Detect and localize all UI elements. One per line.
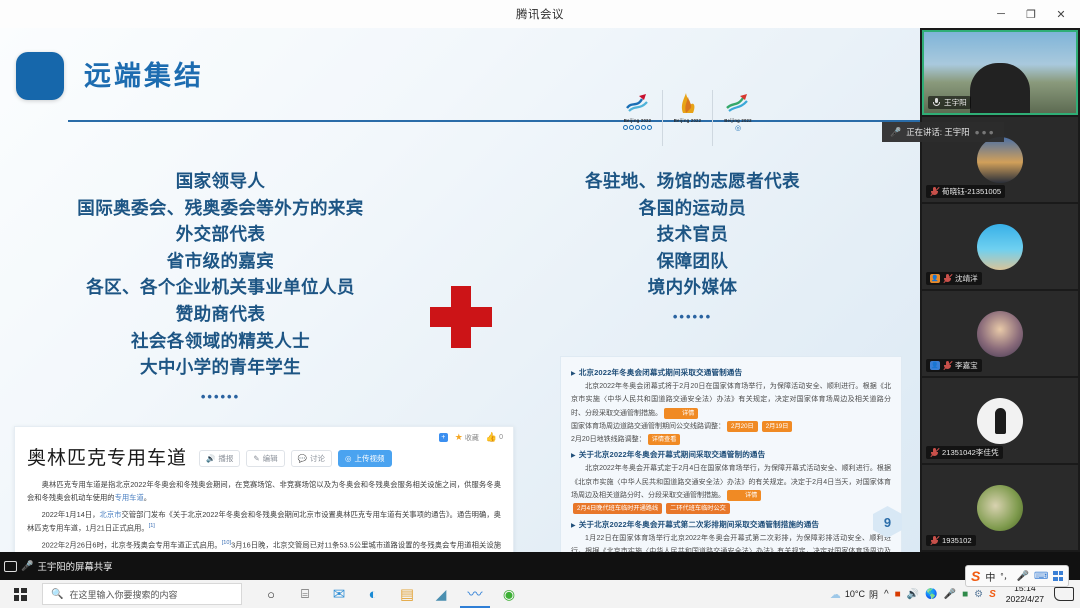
slide-left-ellipsis: •••••• [18,387,423,407]
notice-heading[interactable]: 关于北京2022年冬奥会开幕式期间采取交通管制的通告 [571,449,891,460]
show-hidden-icons-chevron-icon[interactable]: ^ [884,589,889,600]
baike-reference[interactable]: [1] [149,523,155,529]
window-controls: ─ ❐ ✕ [986,0,1076,28]
windows-logo-icon [14,588,27,601]
volume-icon[interactable]: 🔊 [907,589,919,600]
red-cross-icon [430,286,492,348]
slide-right-column: 各驻地、场馆的志愿者代表 各国的运动员 技术官员 保障团队 境内外媒体 ••••… [505,168,880,327]
avatar-silhouette [995,408,1006,434]
star-icon: ★ [455,432,463,443]
discuss-label: 讨论 [310,453,325,464]
thumbs-up-icon: 👍 [486,432,497,443]
sogou-ime-toolbar[interactable]: S 中 °， 🎤 ⌨ [965,565,1069,587]
favorite-button[interactable]: ★ 收藏 [455,432,479,443]
microphone-muted-icon [930,187,939,196]
slide-title: 远端集结 [84,63,204,90]
olympic-logos: Beijing 2022 Beijing 2022 [613,90,763,146]
pencil-icon: ✎ [253,454,259,463]
agitos-icon: ◎ [735,124,741,132]
participant-name: 王宇阳 [944,97,967,108]
microphone-muted-icon [943,361,952,370]
baike-article-panel: + ★ 收藏 👍 0 奥林匹克专用车道 [14,426,514,552]
olympic-rings-icon [623,125,652,130]
like-button[interactable]: 👍 0 [486,432,503,443]
participant-name: 21351042李佳凭 [942,447,999,458]
logo-label: Beijing 2022 [724,118,751,123]
participants-rail[interactable]: 王宇阳 荀晓钰-21351005 👤 沈靖洋 [920,28,1080,552]
windows-taskbar: 🔍 在这里输入你要搜索的内容 ○ ⌸ ✉ ◐ ▤ ◢ 〰 ◉ ☁ 10°C 阴 … [0,580,1080,608]
meeting-area: 远端集结 Beijing 2022 [0,28,1080,580]
minimize-button[interactable]: ─ [986,0,1016,28]
speaker-mic-icon: 🎤 [890,127,901,138]
edit-button[interactable]: ✎ 编辑 [246,450,284,467]
baike-inline-link[interactable]: 北京市 [99,510,121,519]
notice-tag[interactable]: 详情 [727,490,761,501]
notice-tag[interactable]: 详情 [664,408,698,419]
torch-emblem-icon [674,90,702,116]
participant-name: 荀晓钰-21351005 [942,186,1001,197]
slide-right-ellipsis: •••••• [505,307,880,327]
baike-text: 2022年2月26日6时，北京冬残奥会专用车道正式启用。 [42,541,222,550]
baike-action-buttons: 🔊 播报 ✎ 编辑 💬 讨论 [199,450,392,470]
notice-tag[interactable]: 2月4日晚代班车临时开通路线 [573,503,662,514]
loading-dots-icon: ●●● [975,127,996,137]
upload-video-icon: ◎ [345,454,352,463]
discuss-button[interactable]: 💬 讨论 [291,450,332,467]
participant-tile[interactable]: 👤 李嘉宝 [922,291,1078,376]
keyboard-icon[interactable]: ⌨ [1034,571,1048,582]
notice-tag[interactable]: 2月19日 [762,421,793,432]
logo-label: Beijing 2022 [624,118,651,123]
notice-tag[interactable]: 2月20日 [727,421,758,432]
slide-line: 境内外媒体 [505,274,880,301]
tencent-meeting-icon[interactable]: 〰 [460,580,490,608]
baike-paragraph: 2022年1月14日，北京市交管部门发布《关于北京2022年冬奥会和冬残奥会期间… [27,508,501,535]
avatar [977,485,1023,531]
notice-extra-label: 2月20日地铁线路调整： [571,436,646,443]
window-title: 腾讯会议 [516,6,564,22]
task-view-icon[interactable]: ⌸ [290,580,320,608]
search-placeholder: 在这里输入你要搜索的内容 [69,588,177,601]
cortana-icon[interactable]: ○ [256,580,286,608]
slide-line: 社会各领域的精英人士 [18,328,423,355]
participant-name: 1935102 [942,536,972,545]
slide-title-row: 远端集结 [16,52,204,100]
notice-body: 北京2022年冬奥会闭幕式将于2月20日在国家体育场举行，为保障活动安全、顺利进… [571,380,891,420]
apps-icon[interactable] [1053,571,1063,581]
wechat-icon[interactable]: ◉ [494,580,524,608]
participant-tile[interactable]: 👤 沈靖洋 [922,204,1078,289]
baike-paragraph: 2022年2月26日6时，北京冬残奥会专用车道正式启用。[10]3月16日晚，北… [27,538,501,552]
favorite-label: 收藏 [465,433,479,443]
comment-icon: 💬 [298,454,307,463]
logo-label: Beijing 2022 [674,118,701,123]
baike-top-actions: + ★ 收藏 👍 0 [439,432,503,443]
slide-line: 各区、各个企业机关事业单位人员 [18,274,423,301]
settings-gear-icon[interactable]: ⚙ [974,589,983,600]
edit-label: 编辑 [263,453,278,464]
participant-nameplate: 王宇阳 [928,96,971,109]
participant-tile[interactable]: 王宇阳 [922,30,1078,115]
network-icon[interactable]: 🌎 [925,589,937,600]
weather-temp: 10°C [845,589,865,599]
baike-text: 奥林匹克专用车道是指北京2022年冬奥会和冬残奥会期间，在竞赛场馆、非竞赛场馆以… [27,480,501,502]
participant-nameplate: 👤 李嘉宝 [926,359,982,372]
slide-line: 各国的运动员 [505,195,880,222]
tooltip-text: 正在讲话: 王宇阳 [906,126,969,138]
notice-extra: 2月20日地铁线路调整：详情查看 [571,433,891,446]
window-titlebar: 腾讯会议 ─ ❐ ✕ [0,0,1080,28]
notice-body-text: 1月22日在国家体育场举行北京2022年冬奥会开幕式第二次彩排，为保障彩排活动安… [571,535,891,552]
cloud-icon: ☁ [830,588,841,601]
avatar [977,311,1023,357]
speaker-icon: 🔊 [206,454,215,463]
beijing-2022-paralympic-logo: Beijing 2022 ◎ [713,90,763,146]
participant-tile[interactable]: 1935102 [922,465,1078,550]
mic-icon[interactable]: 🎤 [1017,571,1029,582]
slide-line: 技术官员 [505,221,880,248]
participant-name: 沈靖洋 [955,273,978,284]
avatar [977,137,1023,183]
microphone-icon [932,98,941,107]
microphone-muted-icon [943,274,952,283]
microphone-icon: 🎤 [21,561,33,572]
notice-body: 1月22日在国家体育场举行北京2022年冬奥会开幕式第二次彩排，为保障彩排活动安… [571,532,891,552]
monitor-icon [4,561,17,572]
slide-line: 外交部代表 [18,221,423,248]
beijing-2022-torch-logo: Beijing 2022 [663,90,713,146]
search-icon: 🔍 [51,589,63,600]
notice-body: 北京2022年冬奥会开幕式定于2月4日在国家体育场举行，为保障开幕式活动安全、顺… [571,462,891,502]
taskbar-icons: ○ ⌸ ✉ ◐ ▤ ◢ 〰 ◉ [256,580,524,608]
cohost-badge-icon: 👤 [930,361,940,370]
participant-nameplate: 21351042李佳凭 [926,446,1003,459]
baike-reference[interactable]: [10] [222,540,231,546]
battery-icon[interactable]: ■ [962,589,968,600]
slide-line: 赞助商代表 [18,301,423,328]
notice-extra: 国家体育场周边道路交通管制期间公交线路调整：2月20日2月19日 [571,420,891,433]
ime-mode-toggle[interactable]: 中 [985,569,995,584]
notice-heading[interactable]: 关于北京2022年冬奥会开幕式第二次彩排期间采取交通管制措施的通告 [571,519,891,530]
slide-title-chip-icon [16,52,64,100]
baike-header: 奥林匹克专用车道 🔊 播报 ✎ 编辑 💬 [27,443,501,470]
maximize-button[interactable]: ❐ [1016,0,1046,28]
participant-nameplate: 荀晓钰-21351005 [926,185,1005,198]
tencent-meeting-window: 腾讯会议 ─ ❐ ✕ 远端集结 [0,0,1080,608]
person-silhouette [970,63,1030,113]
close-button[interactable]: ✕ [1046,0,1076,28]
slide-line: 各驻地、场馆的志愿者代表 [505,168,880,195]
baike-body: 奥林匹克专用车道是指北京2022年冬奥会和冬残奥会期间，在竞赛场馆、非竞赛场馆以… [27,478,501,552]
wps-icon[interactable]: ◢ [426,580,456,608]
slide-line: 大中小学的青年学生 [18,354,423,381]
notice-heading[interactable]: 北京2022年冬奥会闭幕式期间采取交通管制通告 [571,367,891,378]
upload-video-label: 上传视频 [355,453,385,464]
share-status-text: 王宇阳的屏幕共享 [37,559,112,573]
weather-condition: 阴 [869,588,878,601]
notice-tag[interactable]: 二环代班车临时公交 [666,503,730,514]
participant-tile[interactable]: 21351042李佳凭 [922,378,1078,463]
slide-line: 保障团队 [505,248,880,275]
broadcast-label: 播报 [218,453,233,464]
slide-line: 国家领导人 [18,168,423,195]
baike-text: 2022年1月14日， [42,510,100,519]
notification-center-icon[interactable] [1054,587,1074,601]
presentation-slide: 远端集结 Beijing 2022 [0,28,920,552]
edge-icon[interactable]: ◐ [358,580,388,608]
baike-inline-link[interactable]: 专用车道 [115,493,144,502]
avatar [977,224,1023,270]
like-count: 0 [499,434,503,441]
slide-line: 国际奥委会、残奥委会等外方的来宾 [18,195,423,222]
pdf-app-icon[interactable]: ■ [895,589,901,600]
start-button[interactable] [0,580,40,608]
sogou-logo-icon[interactable]: S [971,568,980,584]
taskbar-search-input[interactable]: 🔍 在这里输入你要搜索的内容 [42,583,242,605]
file-explorer-icon[interactable]: ▤ [392,580,422,608]
broadcast-button[interactable]: 🔊 播报 [199,450,240,467]
screen-share-bar: 🎤 王宇阳的屏幕共享 [0,552,1080,580]
notice-tag[interactable]: 详情查看 [648,434,681,445]
add-icon[interactable]: + [439,433,448,442]
participant-nameplate: 1935102 [926,535,976,546]
beijing-2022-olympic-logo: Beijing 2022 [613,90,663,146]
microphone-muted-icon [930,448,939,457]
microphone-tray-icon[interactable]: 🎤 [944,589,956,600]
participant-name: 李嘉宝 [955,360,978,371]
host-badge-icon: 👤 [930,274,940,283]
sogou-ime-tray-icon[interactable]: S [989,589,996,600]
slide-title-underline [68,120,920,122]
baike-paragraph: 奥林匹克专用车道是指北京2022年冬奥会和冬残奥会期间，在竞赛场馆、非竞赛场馆以… [27,478,501,505]
shared-screen[interactable]: 远端集结 Beijing 2022 [0,28,920,552]
slide-left-column: 国家领导人 国际奥委会、残奥委会等外方的来宾 外交部代表 省市级的嘉宾 各区、各… [18,168,423,407]
paralympic-winter-emblem-icon [723,90,753,116]
mail-icon[interactable]: ✉ [324,580,354,608]
notice-extra: 2月4日晚代班车临时开通路线二环代班车临时公交 [571,502,891,515]
slide-line: 省市级的嘉宾 [18,248,423,275]
microphone-muted-icon [930,536,939,545]
baike-text: 。 [144,493,151,502]
notice-body-text: 北京2022年冬奥会闭幕式将于2月20日在国家体育场举行，为保障活动安全、顺利进… [571,383,891,417]
participant-nameplate: 👤 沈靖洋 [926,272,982,285]
upload-video-button[interactable]: ◎ 上传视频 [338,450,392,467]
notice-extra-label: 国家体育场周边道路交通管制期间公交线路调整： [571,423,725,430]
traffic-notice-panel: 北京2022年冬奥会闭幕式期间采取交通管制通告 北京2022年冬奥会闭幕式将于2… [560,356,902,552]
speaking-tooltip: 🎤 正在讲话: 王宇阳 ●●● [882,122,1004,142]
olympic-winter-emblem-icon [623,90,653,116]
weather-widget[interactable]: ☁ 10°C 阴 [830,588,878,601]
baike-title: 奥林匹克专用车道 [27,443,187,470]
ime-punctuation-toggle[interactable]: °， [1000,571,1011,582]
clock-date: 2022/4/27 [1006,594,1044,605]
